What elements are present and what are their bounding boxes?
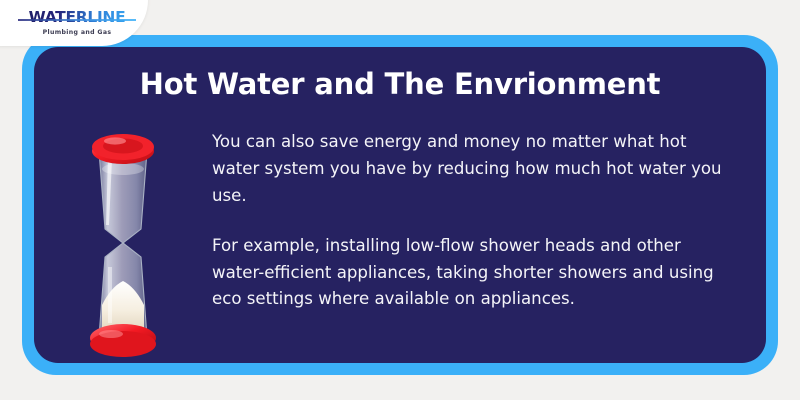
page-title: Hot Water and The Envrionment xyxy=(34,67,766,101)
hourglass-icon xyxy=(75,125,171,363)
card-content-row: You can also save energy and money no ma… xyxy=(34,113,766,363)
brand-logo-inner: WATERLINE Plumbing and Gas xyxy=(16,10,138,36)
brand-logo-badge[interactable]: WATERLINE Plumbing and Gas xyxy=(0,0,148,46)
info-card-frame: Hot Water and The Envrionment xyxy=(22,35,778,375)
brand-tagline: Plumbing and Gas xyxy=(16,29,138,36)
body-text-block: You can also save energy and money no ma… xyxy=(212,129,730,313)
info-card-panel: Hot Water and The Envrionment xyxy=(34,47,766,363)
body-paragraph-2: For example, installing low-flow shower … xyxy=(212,233,730,314)
brand-wordmark: WATERLINE xyxy=(16,10,138,26)
body-paragraph-1: You can also save energy and money no ma… xyxy=(212,129,730,210)
